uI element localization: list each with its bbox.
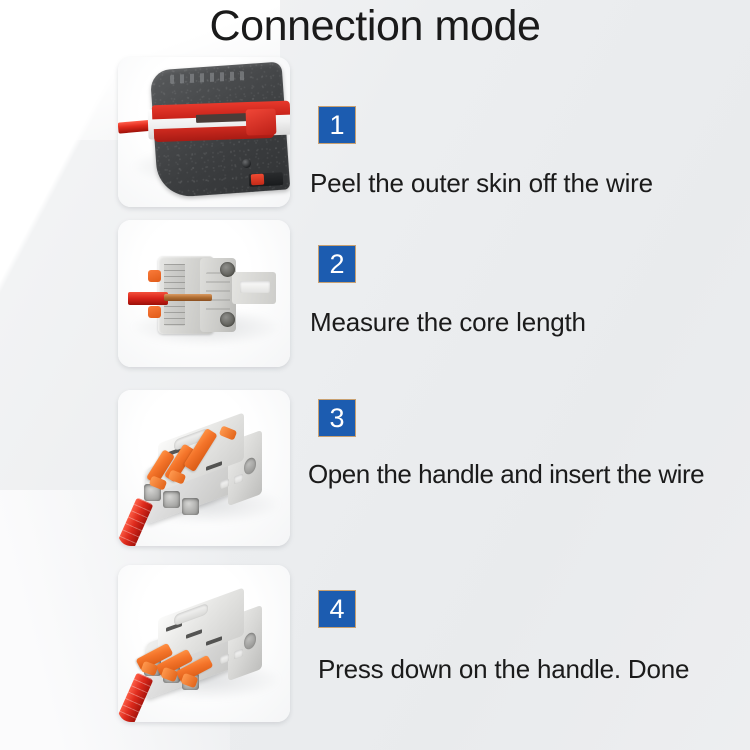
tool-switch-red [251,174,265,186]
photo-background [118,57,290,207]
lever-connector-closed [132,581,280,701]
photo-background [118,390,290,546]
step-text-1: Peel the outer skin off the wire [310,167,653,199]
tool-red-stop-block [246,108,277,135]
step-text-4: Press down on the handle. Done [318,653,689,685]
wire-port-2 [163,491,180,508]
step-photo-2 [118,220,290,367]
orange-lever-bottom [148,306,161,318]
tool-screw [242,159,251,168]
step-photo-1 [118,57,290,207]
step-row-2: 2 Measure the core length [0,220,750,367]
connector-hole-bottom [220,312,235,327]
step-badge-3: 3 [318,399,356,437]
lever-connector-open [132,406,280,526]
step-row-4: 4 Press down on the handle. Done [0,565,750,722]
step-badge-4: 4 [318,590,356,628]
connector-molded-text [206,272,230,312]
step-badge-2: 2 [318,245,356,283]
photo-background [118,565,290,722]
step-badge-1: 1 [318,106,356,144]
connector-hole-top [220,262,235,277]
photo-background [118,220,290,367]
step-photo-4 [118,565,290,722]
page-title: Connection mode [0,1,750,51]
orange-lever-top [148,270,161,282]
wire-port-3 [182,498,199,515]
exposed-copper-core [164,294,212,301]
step-row-3: 3 Open the handle and insert the wire [0,390,750,546]
step-row-1: 1 Peel the outer skin off the wire [0,57,750,207]
connector-tab-slot [240,281,270,293]
connector-side-view [140,246,286,342]
red-wire [128,292,168,305]
step-text-3: Open the handle and insert the wire [308,458,704,490]
step-photo-3 [118,390,290,546]
connection-mode-infographic: Connection mode 1 Peel the outer skin of… [0,0,750,750]
step-text-2: Measure the core length [310,306,586,338]
